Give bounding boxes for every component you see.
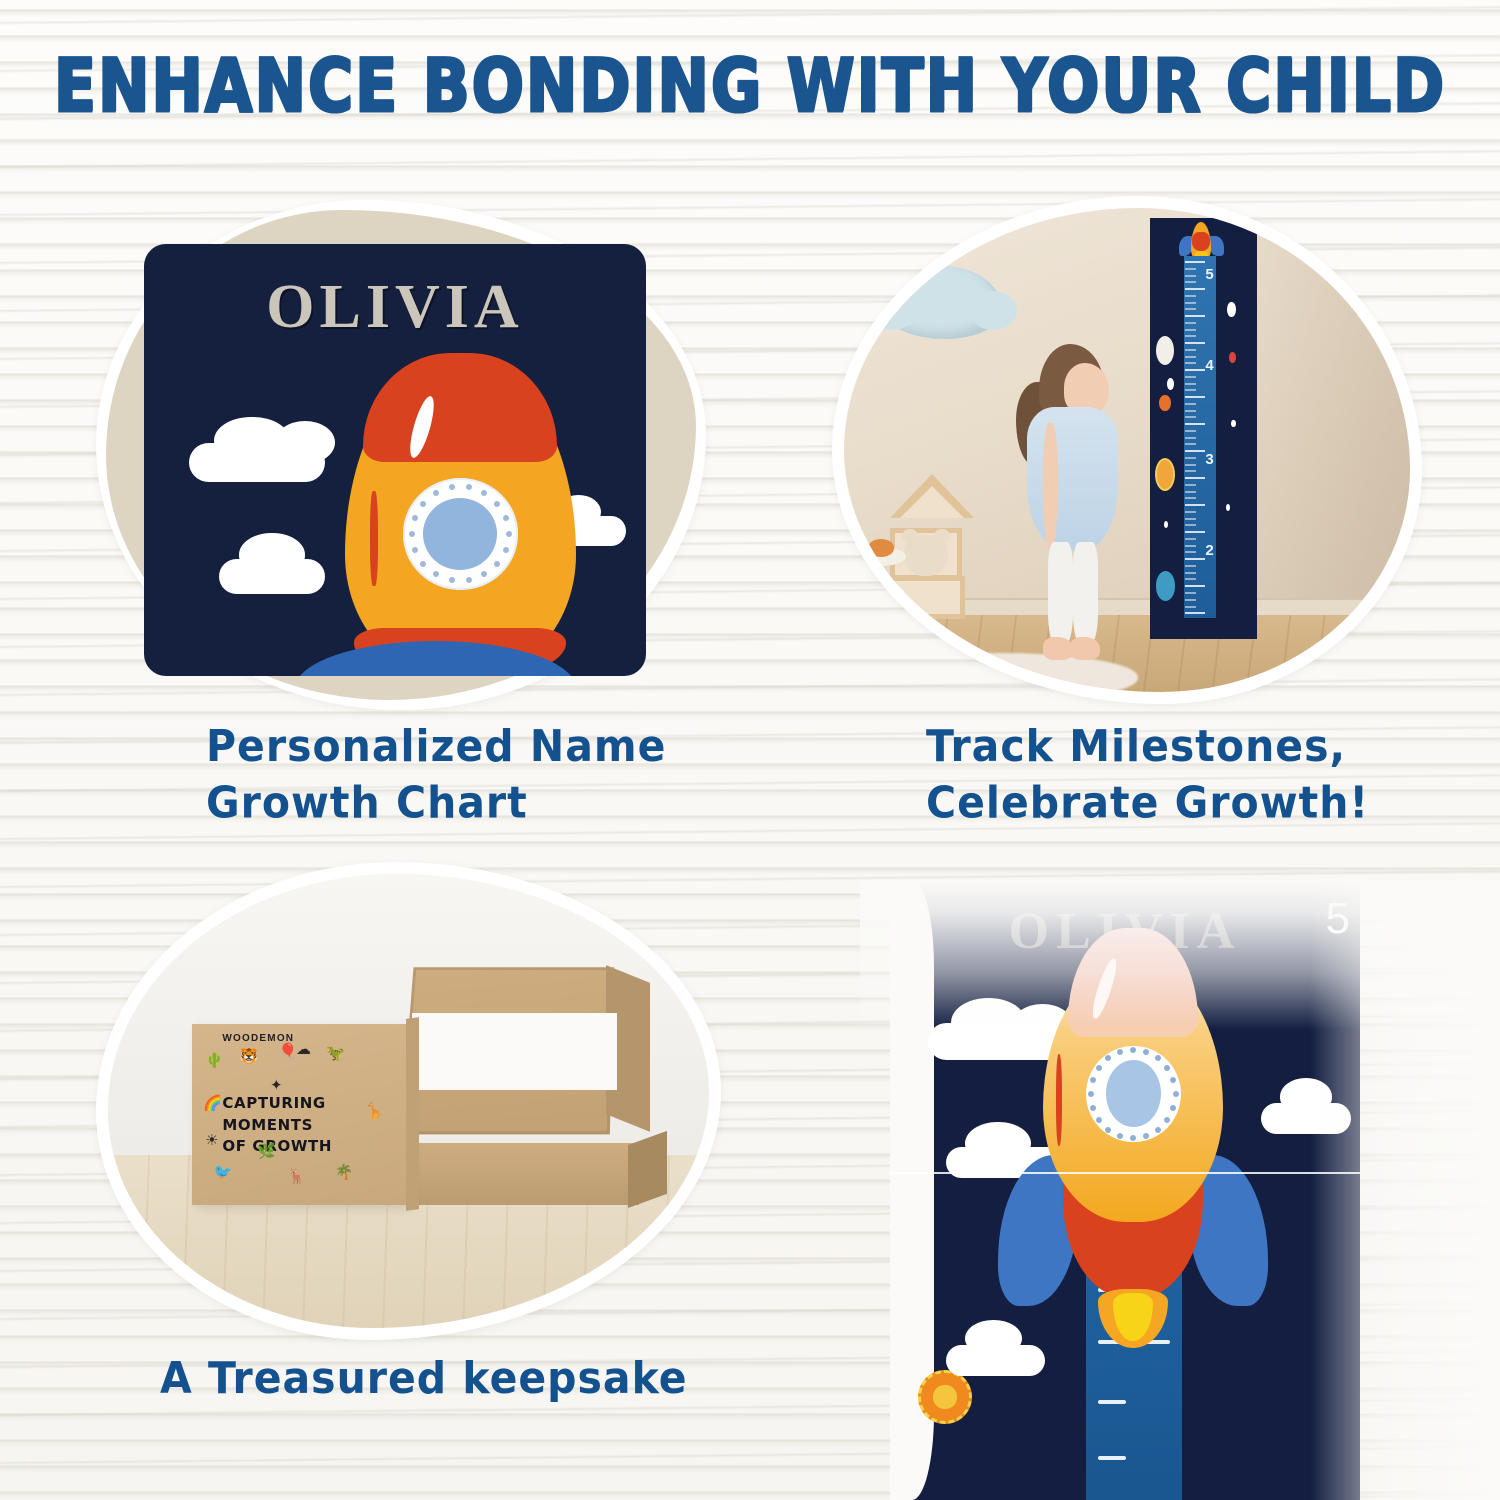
caption-packaging: A Treasured keepsake xyxy=(160,1350,720,1406)
box-tagline: CAPTURING MOMENTS OF GROWTH xyxy=(222,1093,378,1158)
star-icon xyxy=(1227,302,1236,317)
ruler-number-4: 4 xyxy=(1205,357,1213,374)
saturn-icon xyxy=(1156,571,1175,600)
dinosaur-doodle-icon: 🦖 xyxy=(326,1046,345,1061)
moon-icon xyxy=(1156,336,1174,365)
chart-panel-seam xyxy=(890,1172,1360,1174)
page-title: ENHANCE BONDING WITH YOUR CHILD xyxy=(0,44,1500,129)
wall-growth-chart: 5432 xyxy=(1150,218,1258,639)
child-name-label: OLIVIA xyxy=(144,272,646,343)
comet-icon xyxy=(1159,395,1171,412)
cloud-doodle-icon: ☁ xyxy=(296,1042,311,1057)
sun-icon xyxy=(918,1370,972,1424)
flame-icon xyxy=(1098,1289,1168,1348)
star-doodle-icon: ✦ xyxy=(270,1078,283,1093)
star-icon xyxy=(1226,504,1230,511)
lion-doodle-icon: 🐯 xyxy=(240,1049,259,1064)
panel-rocket-closeup: OLIVIA 5 xyxy=(860,880,1500,1500)
cloud-icon xyxy=(275,421,335,464)
growth-chart-card: OLIVIA xyxy=(144,244,646,676)
leaf-doodle-icon: 🌿 xyxy=(257,1144,276,1159)
teddy-bear-icon xyxy=(904,535,948,576)
cactus-doodle-icon: 🌵 xyxy=(205,1053,224,1068)
giraffe-doodle-icon: 🦒 xyxy=(365,1104,384,1119)
gift-box: WOODEMON CAPTURING MOMENTS OF GROWTH 🐯 🦖… xyxy=(192,1024,408,1206)
toucan-doodle-icon: 🐦 xyxy=(214,1165,233,1180)
star-icon xyxy=(1167,378,1175,391)
zebra-doodle-icon: 🦌 xyxy=(287,1169,306,1184)
panel-packaging: WOODEMON CAPTURING MOMENTS OF GROWTH 🐯 🦖… xyxy=(96,862,721,1340)
sun-doodle-icon: ☀ xyxy=(205,1133,218,1148)
ruler-number-2: 2 xyxy=(1205,542,1213,559)
rainbow-doodle-icon: 🌈 xyxy=(203,1096,222,1111)
sun-icon xyxy=(1155,458,1175,492)
child-figure xyxy=(1014,344,1127,663)
caption-personalized-chart: Personalized Name Growth Chart xyxy=(206,719,746,832)
rocket-icon xyxy=(345,356,576,676)
star-icon xyxy=(1229,352,1235,363)
packaging-photo: WOODEMON CAPTURING MOMENTS OF GROWTH 🐯 🦖… xyxy=(108,874,709,1328)
palm-tree-doodle-icon: 🌴 xyxy=(335,1165,354,1180)
star-icon xyxy=(1164,521,1168,528)
open-mailer-box xyxy=(384,965,660,1206)
panel-lifestyle-room: 5432 xyxy=(832,196,1422,704)
porthole-icon xyxy=(403,478,518,590)
panel-personalized-chart: OLIVIA xyxy=(96,200,706,710)
ruler-number-3: 3 xyxy=(1205,451,1213,468)
rocket-icon xyxy=(1179,222,1224,260)
height-ruler: 5432 xyxy=(1184,256,1216,618)
balloon-doodle-icon: 🎈 xyxy=(279,1044,298,1059)
lifestyle-photo: 5432 xyxy=(844,208,1410,692)
caption-lifestyle-room: Track Milestones, Celebrate Growth! xyxy=(926,719,1446,832)
star-icon xyxy=(1231,420,1235,427)
fade-overlay-right xyxy=(1310,880,1500,1500)
ruler-number-5: 5 xyxy=(1205,266,1213,283)
cloud-icon xyxy=(239,533,304,576)
